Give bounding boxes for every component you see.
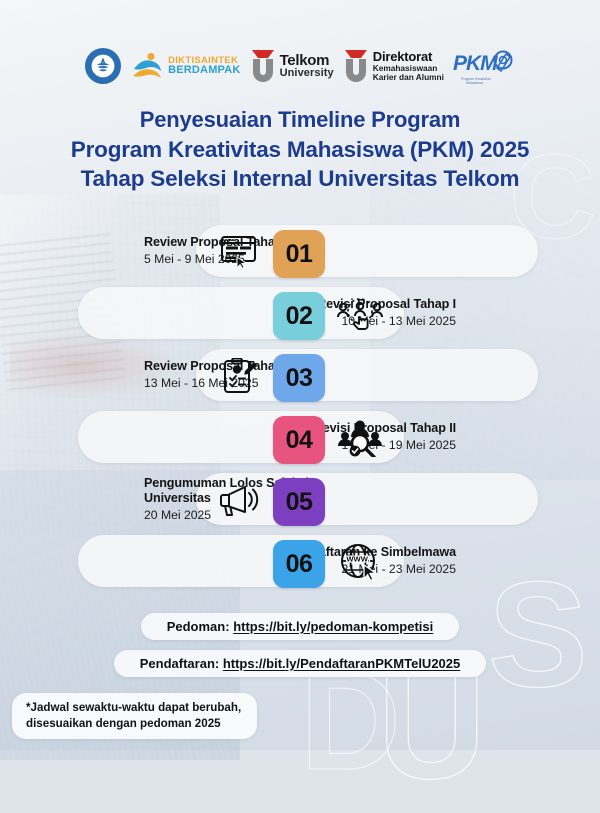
timeline-step-badge: 01 xyxy=(273,230,325,278)
browser-window-cursor-icon xyxy=(212,228,268,276)
pkm-mark-icon: PKM Program Kreativitas Mahasiswa xyxy=(453,46,515,86)
links-section: Pedoman: https://bit.ly/pedoman-kompetis… xyxy=(0,613,600,687)
timeline-row: 04 Revisi Proposal Tahap II 17 Mei - 19 … xyxy=(0,408,600,466)
telkom-line2: University xyxy=(280,68,334,79)
title-line-3: Tahap Seleksi Internal Universitas Telko… xyxy=(0,164,600,193)
diktisaintek-line2: BERDAMPAK xyxy=(168,65,240,76)
direktorat-u-mark-icon xyxy=(343,49,369,83)
timeline-step-badge: 03 xyxy=(273,354,325,402)
logo-direktorat-kemahasiswaan: Direktorat Kemahasiswaan Karier dan Alum… xyxy=(343,49,444,83)
pendaftaran-link[interactable]: https://bit.ly/PendaftaranPKMTelU2025 xyxy=(223,656,460,671)
page-title: Penyesuaian Timeline Program Program Kre… xyxy=(0,106,600,193)
disclaimer-line-2: disesuaikan dengan pedoman 2025 xyxy=(26,716,241,732)
telkom-u-mark-icon xyxy=(250,49,276,83)
pedoman-label: Pedoman: xyxy=(167,619,233,634)
svg-text:PKM: PKM xyxy=(453,52,498,75)
timeline-row: 05 Pengumuman Lolos Seleksi Universitas … xyxy=(0,470,600,528)
disclaimer-line-1: *Jadwal sewaktu-waktu dapat berubah, xyxy=(26,700,241,716)
logo-kemendikbud xyxy=(85,48,121,84)
tut-wuri-handayani-emblem xyxy=(85,48,121,84)
pendaftaran-link-pill[interactable]: Pendaftaran: https://bit.ly/PendaftaranP… xyxy=(114,650,487,677)
logo-bar: DIKTISAINTEK BERDAMPAK Telkom University… xyxy=(0,40,600,92)
timeline-step-badge: 05 xyxy=(273,478,325,526)
timeline-step-badge: 06 xyxy=(273,540,325,588)
telkom-line1: Telkom xyxy=(280,53,334,68)
megaphone-icon xyxy=(212,476,268,524)
user-selection-click-icon xyxy=(332,290,388,338)
svg-text:WWW.: WWW. xyxy=(346,555,369,564)
title-line-2: Program Kreativitas Mahasiswa (PKM) 2025 xyxy=(0,135,600,164)
logo-pkm: PKM Program Kreativitas Mahasiswa xyxy=(453,46,515,86)
people-search-verified-icon xyxy=(332,414,388,462)
timeline-row: 02 Revisi Proposal Tahap I 10 Mei - 13 M… xyxy=(0,284,600,342)
globe-www-cursor-icon: WWW. xyxy=(332,538,388,586)
timeline-step-badge: 02 xyxy=(273,292,325,340)
schedule-disclaimer: *Jadwal sewaktu-waktu dapat berubah, dis… xyxy=(12,693,257,739)
pendaftaran-label: Pendaftaran: xyxy=(140,656,223,671)
direktorat-line1: Direktorat xyxy=(373,50,444,64)
title-line-1: Penyesuaian Timeline Program xyxy=(0,106,600,135)
logo-telkom-university: Telkom University xyxy=(250,49,334,83)
pedoman-link-pill[interactable]: Pedoman: https://bit.ly/pedoman-kompetis… xyxy=(141,613,460,640)
direktorat-line3: Karier dan Alumni xyxy=(373,73,444,82)
logo-diktisaintek-berdampak: DIKTISAINTEK BERDAMPAK xyxy=(130,49,240,83)
timeline-row: 01 Review Proposal Tahap I 5 Mei - 9 Mei… xyxy=(0,222,600,280)
clipboard-checklist-pen-icon xyxy=(212,352,268,400)
telkom-wordmark: Telkom University xyxy=(280,53,334,80)
svg-text:Mahasiswa: Mahasiswa xyxy=(466,81,483,85)
diktisaintek-wordmark: DIKTISAINTEK BERDAMPAK xyxy=(168,56,240,77)
timeline-row: 03 Review Proposal Tahap II 13 Mei - 16 … xyxy=(0,346,600,404)
direktorat-wordmark: Direktorat Kemahasiswaan Karier dan Alum… xyxy=(373,50,444,81)
diktisaintek-mark-icon xyxy=(130,49,164,83)
pedoman-link[interactable]: https://bit.ly/pedoman-kompetisi xyxy=(233,619,433,634)
timeline-step-badge: 04 xyxy=(273,416,325,464)
timeline-row: WWW. 06 Pendaftaran ke Simbelmawa 21 Mei… xyxy=(0,532,600,590)
timeline: 01 Review Proposal Tahap I 5 Mei - 9 Mei… xyxy=(0,222,600,594)
